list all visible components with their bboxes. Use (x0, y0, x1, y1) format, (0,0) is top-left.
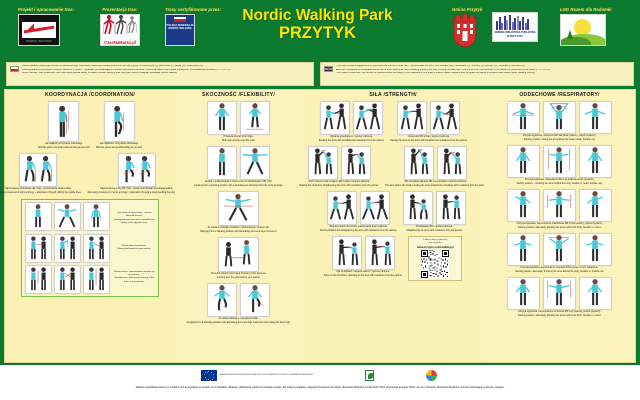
exercise-caption-pl: Wyprost ramion do przodu, pokonywanie op… (320, 226, 397, 229)
figure-row (507, 101, 612, 134)
strength-row-4: Kije na barkach, napięcie ramion z opore… (324, 236, 463, 281)
title-line-1: Nordic Walking Park (185, 8, 450, 24)
exercise-caption-en: Jumping from a standing position with a … (194, 185, 283, 188)
exercise-caption-en: Bending the arms with simultaneous resis… (319, 140, 385, 143)
exercise-figure (397, 101, 427, 135)
exercise-caption-en: Alternating movement of arms and legs – … (88, 192, 186, 195)
exercise-caption-pl: Przeskok obunóż przez kijek trzymany prz… (211, 273, 266, 276)
figure-row (403, 191, 466, 225)
figure-row (507, 189, 612, 222)
logo-slot-lgd: LGD Razem dla Radomki (560, 7, 612, 46)
figure-row (0, 153, 82, 187)
exercise-item: Pozycja wyjściowa, unoszenie RR nad głow… (507, 101, 612, 142)
logo-name: GMINNA BIBLIOTEKA PUBLICZNA W PRZYTYKU (493, 31, 537, 38)
exercise-figure (332, 236, 362, 270)
exercise-item: Pozycja wyjściowa, naprzemienne unoszeni… (507, 277, 612, 318)
logo-name: STACJA ZDROWIE (19, 35, 59, 39)
exercise-caption-pl: Jak najdłużej utrzymanie równowagi. (38, 143, 90, 146)
info-bar-polish: Tablica zawiera propozycje ćwiczeń do sa… (6, 62, 314, 86)
exercise-figure (507, 189, 540, 222)
logo-slot-biblioteka: GMINNA BIBLIOTEKA PUBLICZNA W PRZYTYKU (492, 12, 538, 42)
exercise-item: Pozycja wyjściowa, odwiedzenie RR w tył … (507, 145, 612, 186)
exercise-figure (240, 101, 270, 135)
exercise-caption-en: Hold the pelvis and push pelvis as long … (38, 147, 90, 150)
exercise-caption-en: Poles on the shoulders, standing on the … (324, 275, 403, 278)
coordination-grid (25, 202, 110, 293)
exercise-caption-pl: Ze stania w rozkroku przeskok z równocze… (200, 227, 277, 230)
column-respiratory: ODDECHOWE /RESPIRATORY/ (484, 90, 635, 362)
info-bar-english: The board contains suggestions for exerc… (320, 62, 634, 86)
tree-icon (567, 30, 573, 39)
figure-row (385, 146, 487, 180)
exercise-figure (579, 233, 612, 266)
flag-united-kingdom-icon (324, 66, 333, 72)
exercise-caption-en: Starting position, alternately throwing … (507, 271, 612, 274)
nordic-walking-poster: Projekt i opracowanie tras: STACJA ZDROW… (0, 0, 640, 400)
caption-pl: Ćwiczenie na równowagę – zmiana kierunku… (113, 212, 155, 219)
exercise-item: Przeskok obunóż przez kijek. Both legs j… (207, 101, 270, 143)
exercise-item: Naprzemienne ruchy RR i NN – unosić oraz… (88, 153, 186, 195)
exercise-item: Pozycja wyjściowa, naprzemienne wymachy … (507, 233, 612, 274)
exercise-figure (308, 146, 338, 180)
figure-row (200, 191, 277, 226)
exercise-caption-pl: Zginanie przedramion z oporem partnera. (319, 136, 385, 139)
exercise-figure (207, 146, 237, 180)
figure-row (38, 101, 90, 142)
exercise-caption-en: Hold the pelvis and push/bending as you … (96, 147, 142, 150)
exercise-figure (54, 202, 81, 231)
exercise-item: Przeskok obunóż przez kijek trzymany prz… (211, 237, 266, 280)
exercise-figure (218, 237, 259, 272)
exercise-figure (579, 145, 612, 178)
exercise-figure (365, 236, 395, 270)
exercise-caption-pl: Przeskok obunóż przez kijek. (207, 136, 270, 139)
exercise-item: Naprzemienne poruszanie rąk i nóg – prze… (0, 153, 82, 195)
exercise-item: Jak najdłuższe utrzymanie równowagi. Hol… (96, 101, 142, 150)
coordination-top-row: Jak najdłużej utrzymanie równowagi. Hold… (38, 101, 142, 153)
column-coordination: KOORDYNACJA /COORDINATION/ (5, 90, 175, 362)
exercise-figure (507, 101, 540, 134)
exercise-figure (404, 146, 434, 180)
figure-row (187, 283, 291, 317)
strength-row-1: Zginanie przedramion z oporem partnera. … (319, 101, 468, 146)
exercise-figure (320, 101, 350, 135)
figure-row (390, 101, 467, 135)
exercise-item: Kije na barkach, napięcie ramion z opore… (324, 236, 403, 278)
exercise-panel: KOORDYNACJA /COORDINATION/ (4, 89, 636, 363)
title-line-2: PRZYTYK (185, 24, 450, 42)
exercise-caption-en: Straightening the arms with resistance f… (403, 230, 466, 233)
exercise-caption-pl: Naprzemienne poruszanie rąk i nóg – prze… (0, 188, 82, 191)
caption-en: Simultaneous, alternating throwing of th… (113, 277, 155, 284)
exercise-caption-en: Both legs jumping over the pole! (207, 140, 270, 143)
strength-row-3: Wyprost ramion do przodu, pokonywanie op… (320, 191, 466, 236)
exercise-item: Prostowanie RR z oporem partnera. Straig… (403, 191, 466, 233)
exercise-caption-en: Swaying from a standing position with al… (200, 231, 277, 234)
exercise-item: Pozycja wyjściowa, naprzemienne odwodzen… (507, 189, 612, 230)
exercise-figure (104, 101, 135, 142)
figure-row (507, 233, 612, 266)
coordination-subpanel: Ćwiczenie na równowagę – zmiana kierunku… (21, 199, 159, 297)
lgd-razem-logo (560, 14, 606, 46)
caption-en: Turning your own axis with a simultaneou… (113, 219, 155, 226)
poster-title: Nordic Walking Park PRZYTYK (185, 8, 450, 42)
exercise-figure (25, 202, 52, 231)
subpanel-captions: Ćwiczenie na równowagę – zmiana kierunku… (113, 202, 155, 293)
figure-row (211, 237, 266, 272)
info-text-english: The board contains suggestions for exerc… (336, 65, 630, 83)
prow-logo (365, 370, 374, 381)
exercise-item: Unoszenie RR w bok z oporem partnera. Ra… (390, 101, 467, 143)
poster-footer: UNIA EUROPEJSKA EUROPEJSKI FUNDUSZ ROLNY… (0, 365, 640, 400)
exercise-caption-pl: Ruch ramion w bok w zgięciu RR w górę z … (300, 181, 379, 184)
logo-caption: LGD Razem dla Radomki (560, 7, 612, 12)
exercise-caption-pl: RR nad głową zginanie RR w tył na karku … (385, 181, 487, 184)
logo-caption: Prezentacja tras: (100, 7, 140, 12)
figure-row (507, 277, 612, 310)
exercise-caption-en: The arms above the head, bending the arm… (385, 185, 487, 188)
exercise-caption-pl: Jak najdłuższe utrzymanie równowagi. (96, 143, 142, 146)
exercise-figure (507, 145, 540, 178)
exercise-figure (507, 233, 540, 266)
exercise-caption-pl: Kije na barkach, napięcie ramion z opore… (324, 271, 403, 274)
exercise-figure (403, 191, 433, 225)
przytyk-coat-of-arms (452, 14, 478, 48)
exercise-figure (207, 101, 237, 135)
exercise-figure (48, 101, 79, 142)
exercise-caption-pl: Pozycja wyjściowa, naprzemienne odwodzen… (507, 223, 612, 226)
leader-logo (426, 370, 439, 381)
figure-row (300, 146, 379, 180)
exercise-figure (579, 277, 612, 310)
exercise-figure (240, 283, 270, 317)
coordination-second-row: Naprzemienne poruszanie rąk i nóg – prze… (0, 153, 186, 198)
eu-flag-icon (201, 370, 217, 381)
exercise-figure (19, 153, 57, 187)
exercise-figure (54, 234, 81, 263)
exercise-figure (218, 191, 259, 226)
stacja-zdrowie-logo: STACJA ZDROWIE NORDIC WALKING (18, 14, 60, 46)
figure-row (207, 101, 270, 135)
subpanel-caption-row: Ćwiczenie na równowagę – zmiana kierunku… (113, 212, 155, 225)
column-heading: SIŁA /STRENGTH/ (369, 92, 416, 98)
exercise-item: Wyprost ramion do przodu, pokonywanie op… (320, 191, 397, 233)
exercise-caption-pl: Pozycja wyjściowa, naprzemienne unoszeni… (507, 311, 612, 314)
exercise-caption-en: Moving forward and straightening the arm… (320, 230, 397, 233)
eu-flag-logo: UNIA EUROPEJSKA EUROPEJSKI FUNDUSZ ROLNY… (201, 370, 313, 381)
footer-logo-strip: UNIA EUROPEJSKA EUROPEJSKI FUNDUSZ ROLNY… (0, 365, 640, 383)
exercise-figure (543, 233, 576, 266)
subpanel-caption-row: Marsz tyłem do partnera. Moving backward… (113, 245, 155, 252)
exercise-caption-en: Raising the shoulders, straightening the… (300, 185, 379, 188)
exercise-figure (579, 189, 612, 222)
exercise-figure (327, 191, 357, 225)
qr-caption-line-2: lub wszystko: (429, 242, 442, 245)
prow-icon (365, 370, 374, 381)
exercise-figure (579, 101, 612, 134)
footer-funding-text: Zadanie współfinansowane ze środków Unii… (0, 386, 640, 389)
column-heading: ODDECHOWE /RESPIRATORY/ (519, 92, 599, 98)
exercise-item: Ruch ramion w bok w zgięciu RR w górę z … (300, 146, 379, 188)
exercise-item: Jak najdłużej utrzymanie równowagi. Hold… (38, 101, 90, 150)
sun-icon (574, 19, 591, 36)
exercise-caption-pl: Prostowanie RR z oporem partnera. (403, 226, 466, 229)
logo-caption: Gmina Przytyk (452, 7, 482, 12)
figure-row (319, 101, 385, 135)
logo-name: CzasNaMarsz.pl (104, 40, 136, 46)
exercise-figure (360, 191, 390, 225)
exercise-figure (543, 277, 576, 310)
exercise-figure (25, 265, 52, 294)
info-text-polish: Tablica zawiera propozycje ćwiczeń do sa… (22, 65, 310, 83)
exercise-figure (207, 283, 237, 317)
exercise-caption-en: Starting position, alternately throwing … (507, 227, 612, 230)
figure-row (507, 145, 612, 178)
exercise-caption-pl: Ze stania wolnego z nogi ugięcie kolan. (187, 318, 291, 321)
exercise-caption-pl: Pozycja wyjściowa, unoszenie RR nad głow… (507, 135, 612, 138)
column-strength: SIŁA /STRENGTH/ (302, 90, 484, 362)
figure-row (320, 191, 397, 225)
qr-code-icon[interactable] (421, 250, 449, 278)
exercise-caption-pl: Naprzemienne ruchy RR i NN – unosić oraz… (88, 188, 186, 191)
exercise-figure (240, 146, 270, 180)
exercise-figure (118, 153, 156, 187)
exercise-caption-pl: Unoszenie RR w bok z oporem partnera. (390, 136, 467, 139)
exercise-caption-en: A jogging from a standing position with … (187, 322, 291, 325)
exercise-figure (543, 189, 576, 222)
exercise-figure (353, 101, 383, 135)
biblioteka-logo: GMINNA BIBLIOTEKA PUBLICZNA W PRZYTYKU (492, 12, 538, 42)
qr-info-box[interactable]: Pobierz więcej informacji lub wszystko: … (408, 236, 462, 281)
figure-row (96, 101, 142, 142)
column-flexibility: SKOCZNOŚĆ /FLEXIBILITY/ Przesko (175, 90, 302, 362)
subpanel-caption-row: Równoczesne, naprzemienne wyrzuty rąk do… (113, 271, 155, 284)
logo-slot-przytyk: Gmina Przytyk (452, 7, 482, 48)
figure-row (324, 236, 403, 270)
exercise-figure (341, 146, 371, 180)
exercise-figure (25, 234, 52, 263)
caption-en: Moving backwards to your partner. (113, 248, 155, 251)
exercise-caption-en: Starting position – throwing the arms be… (507, 183, 612, 186)
exercise-item: Zginanie przedramion z oporem partnera. … (319, 101, 385, 143)
exercise-caption-pl: Zeskok z podwyższenia z równoczesnym odw… (194, 181, 283, 184)
exercise-item: RR nad głową zginanie RR w tył na karku … (385, 146, 487, 188)
logo-subname: NORDIC WALKING (19, 40, 59, 43)
poster-header: Projekt i opracowanie tras: STACJA ZDROW… (0, 0, 640, 57)
logo-caption: Projekt i opracowanie tras: (18, 7, 74, 12)
exercise-figure (430, 101, 460, 135)
leader-icon (426, 370, 437, 381)
book-bars-icon (496, 15, 534, 30)
website-url[interactable]: www.przytyk.nordicwalking.pl (417, 246, 454, 249)
exercise-figure (507, 277, 540, 310)
exercise-caption-pl: Pozycja wyjściowa, naprzemienne wymachy … (507, 267, 612, 270)
figure-row (88, 153, 186, 187)
info-line: Wybór ćwiczeń, ilość powtórzeń oraz czas… (22, 72, 310, 76)
eu-logo-text: UNIA EUROPEJSKA EUROPEJSKI FUNDUSZ ROLNY… (219, 374, 313, 377)
exercise-item: Zeskok z podwyższenia z równoczesnym odw… (194, 146, 283, 188)
exercise-item: Ze stania w rozkroku przeskok z równocze… (200, 191, 277, 234)
logo-slot-czasnamarsz: Prezentacja tras: CzasNaMarsz.pl (100, 7, 140, 46)
column-heading: SKOCZNOŚĆ /FLEXIBILITY/ (202, 92, 275, 98)
exercise-figure (436, 191, 466, 225)
exercise-figure (83, 265, 110, 294)
figure-row (194, 146, 283, 180)
exercise-figure (437, 146, 467, 180)
column-heading: KOORDYNACJA /COORDINATION/ (45, 92, 135, 98)
exercise-caption-en: Raising the arms to the sides with simul… (390, 140, 467, 143)
flag-poland-icon (10, 66, 19, 72)
info-line: The choice of exercises, the number of r… (336, 72, 630, 76)
exercise-caption-pl: Pozycja wyjściowa, odwiedzenie RR w tył … (507, 179, 612, 182)
exercise-figure (54, 265, 81, 294)
strength-row-2: Ruch ramion w bok w zgięciu RR w górę z … (300, 146, 487, 191)
exercise-caption-en: Alternating movement of arms and legs – … (0, 192, 82, 195)
logo-slot-stacja: Projekt i opracowanie tras: STACJA ZDROW… (18, 7, 74, 46)
czasnamarsz-logo: CzasNaMarsz.pl (100, 14, 140, 46)
exercise-figure (83, 234, 110, 263)
exercise-caption-en: Starting position, alternately throwing … (507, 315, 612, 318)
exercise-figure (543, 101, 576, 134)
exercise-caption-en: Jumping over the pole held by your partn… (211, 277, 266, 280)
exercise-figure (543, 145, 576, 178)
exercise-item: Ze stania wolnego z nogi ugięcie kolan. … (187, 283, 291, 325)
walkers-icon (101, 14, 139, 41)
exercise-figure (83, 202, 110, 231)
exercise-caption-en: Starting position, raising the arms abov… (507, 139, 612, 142)
